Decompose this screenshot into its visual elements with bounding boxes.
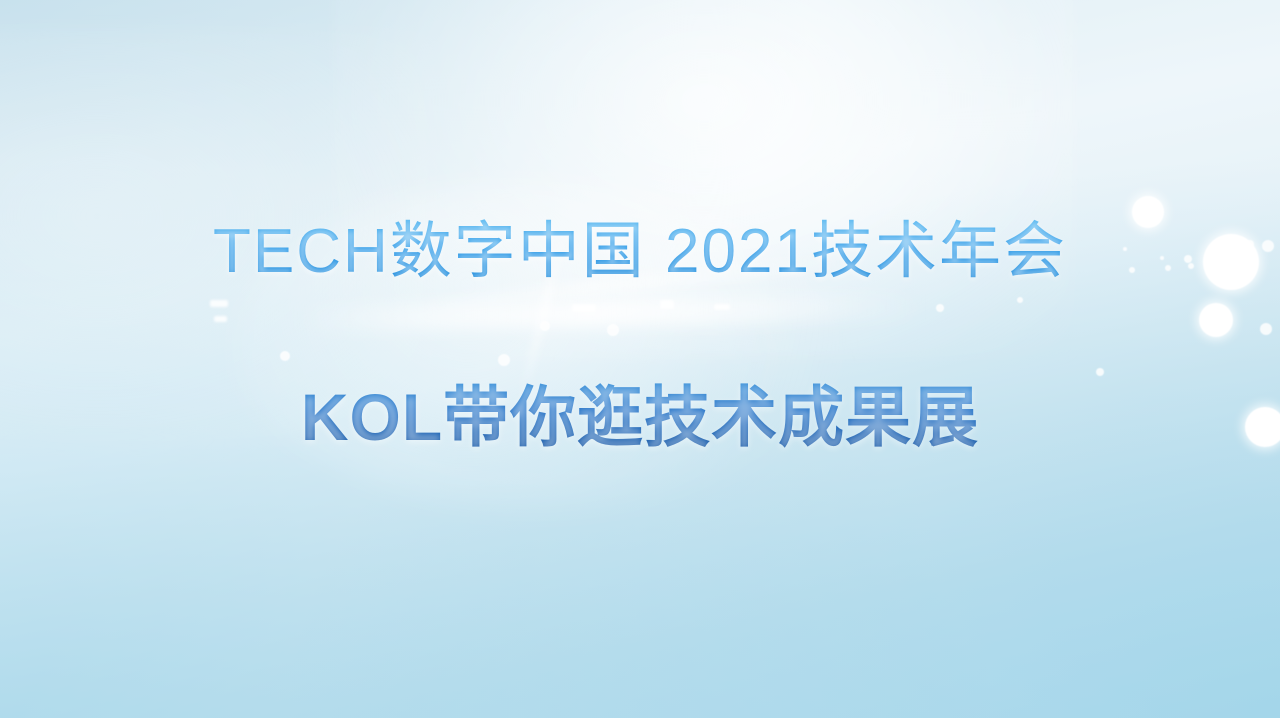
video-title-card: TECH数字中国 2021技术年会 KOL带你逛技术成果展 xyxy=(0,0,1280,718)
title-line-primary: TECH数字中国 2021技术年会 xyxy=(0,216,1280,288)
title-line-secondary: KOL带你逛技术成果展 xyxy=(0,378,1280,456)
title-block: TECH数字中国 2021技术年会 KOL带你逛技术成果展 xyxy=(0,0,1280,718)
